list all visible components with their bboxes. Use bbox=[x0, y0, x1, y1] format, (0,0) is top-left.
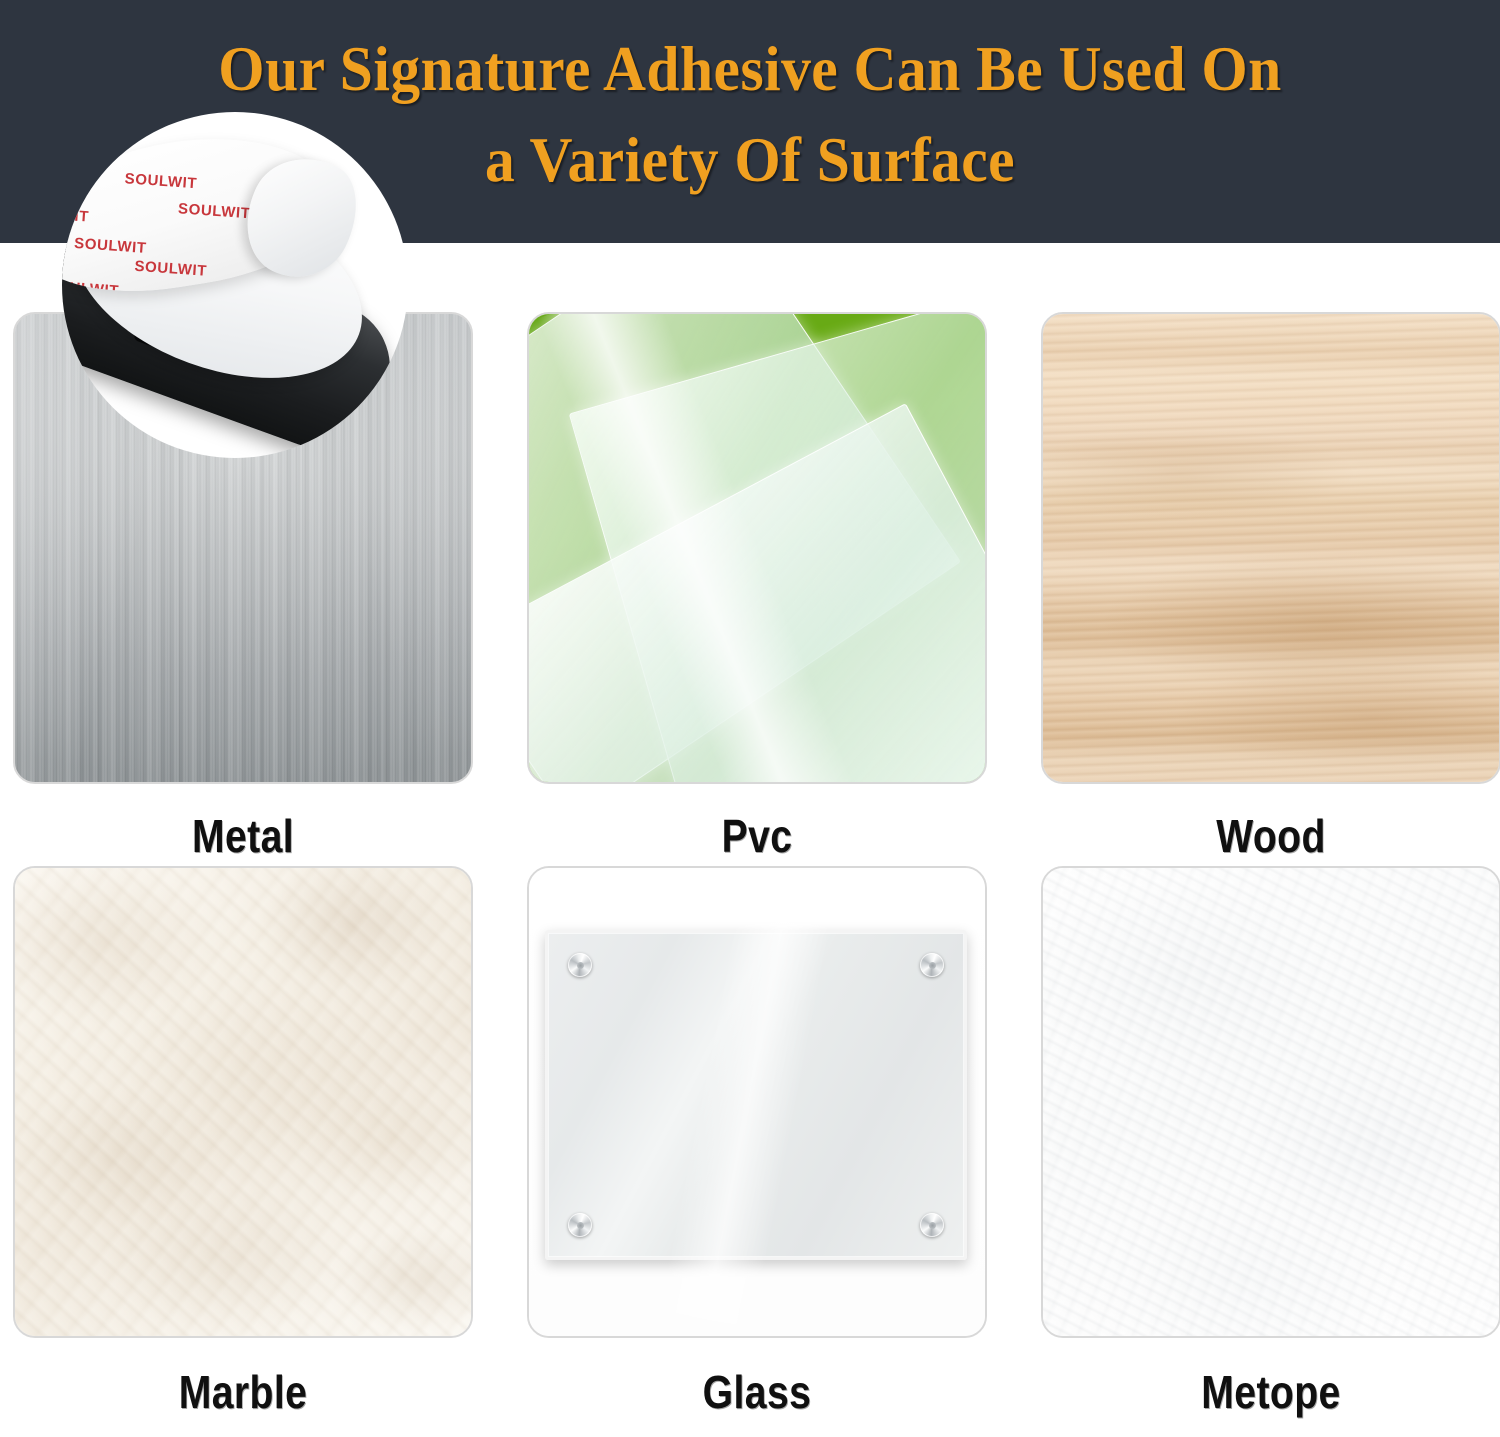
surface-grid: Metal Pvc Wood M bbox=[13, 312, 1490, 1422]
surface-label-marble: Marble bbox=[48, 1362, 439, 1422]
surface-cell-wood[interactable]: Wood bbox=[1041, 312, 1500, 866]
brand-print: SOULWIT bbox=[62, 278, 120, 300]
surface-cell-glass[interactable]: Glass bbox=[527, 866, 987, 1422]
glass-texture bbox=[529, 868, 985, 1336]
surface-cell-metope[interactable]: Metope bbox=[1041, 866, 1500, 1422]
standoff-screw-icon bbox=[568, 953, 592, 977]
glass-gloss-highlight bbox=[659, 898, 833, 1329]
brand-print: SOULWIT bbox=[124, 170, 198, 192]
surface-image-pvc[interactable] bbox=[527, 312, 987, 784]
surface-row: Marble Glass Metope bbox=[13, 866, 1490, 1422]
pvc-texture bbox=[529, 314, 985, 782]
brand-print: SOULWIT bbox=[74, 235, 148, 257]
wood-texture bbox=[1043, 314, 1499, 782]
surface-label-metal: Metal bbox=[48, 806, 439, 866]
brand-print: SOULWIT bbox=[62, 204, 90, 226]
metope-texture bbox=[1043, 868, 1499, 1336]
brand-print: SOULWIT bbox=[177, 200, 251, 222]
standoff-screw-icon bbox=[920, 953, 944, 977]
surface-label-pvc: Pvc bbox=[562, 806, 953, 866]
surface-cell-pvc[interactable]: Pvc bbox=[527, 312, 987, 866]
surface-image-wood[interactable] bbox=[1041, 312, 1500, 784]
surface-label-metope: Metope bbox=[1076, 1362, 1467, 1422]
product-closeup-inset: SOULWIT SOULWIT SOULWIT SOULWIT SOULWIT … bbox=[62, 112, 408, 458]
surface-label-glass: Glass bbox=[562, 1362, 953, 1422]
marble-texture bbox=[15, 868, 471, 1336]
glass-panel bbox=[545, 930, 967, 1260]
surface-cell-marble[interactable]: Marble bbox=[13, 866, 473, 1422]
brand-print: SOULWIT bbox=[134, 258, 208, 280]
standoff-screw-icon bbox=[920, 1213, 944, 1237]
surface-label-wood: Wood bbox=[1076, 806, 1467, 866]
surface-image-metope[interactable] bbox=[1041, 866, 1500, 1338]
surface-image-glass[interactable] bbox=[527, 866, 987, 1338]
standoff-screw-icon bbox=[568, 1213, 592, 1237]
surface-image-marble[interactable] bbox=[13, 866, 473, 1338]
